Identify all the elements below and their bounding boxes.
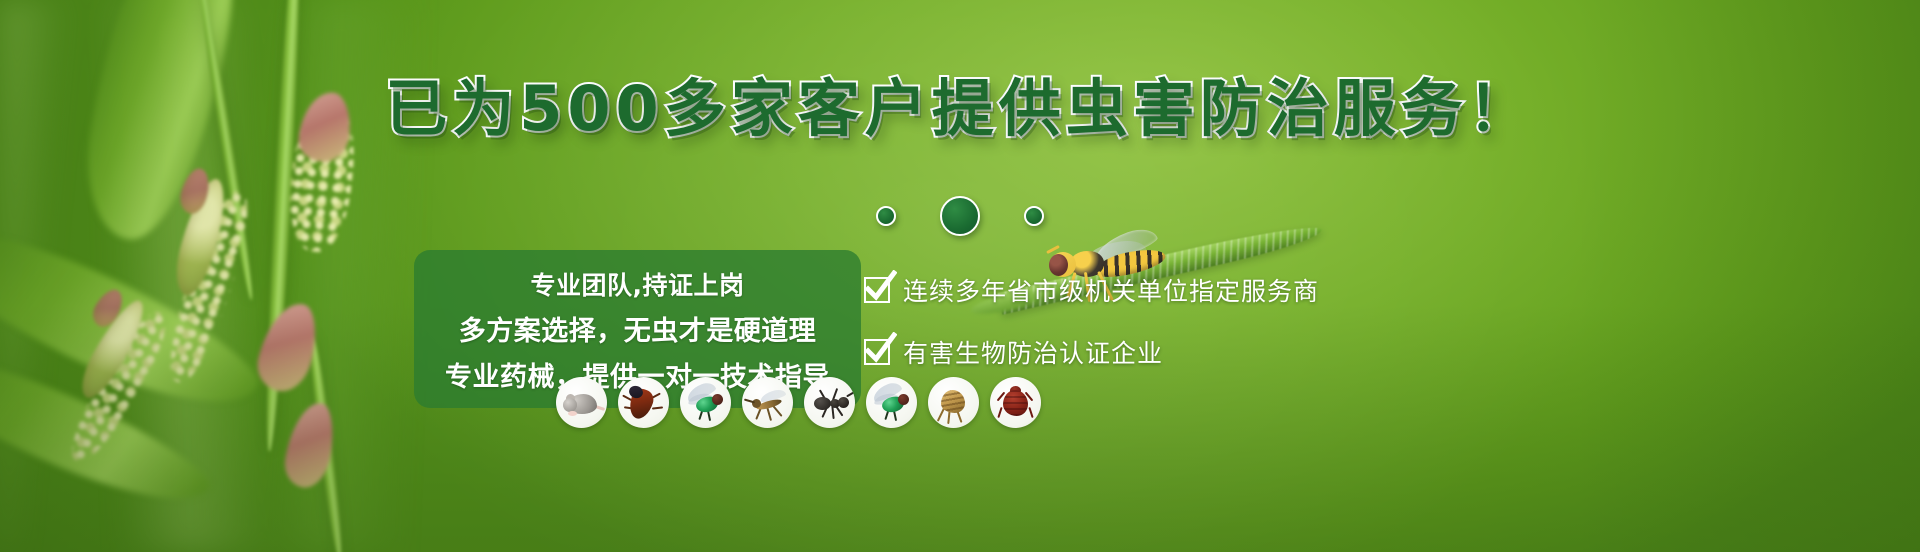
- dot-large-center: [940, 196, 980, 236]
- fly-icon[interactable]: [680, 377, 731, 428]
- selling-point-line-1: 专业团队,持证上岗: [414, 266, 861, 302]
- selling-point-line-2: 多方案选择，无虫才是硬道理: [414, 309, 861, 348]
- checkmark-icon: [864, 277, 890, 303]
- checklist-item-1: 连续多年省市级机关单位指定服务商: [864, 272, 1319, 308]
- green-fly-icon[interactable]: [866, 377, 917, 428]
- mouse-icon[interactable]: [556, 377, 607, 428]
- decorative-dot-row: [0, 196, 1920, 236]
- credentials-checklist: 连续多年省市级机关单位指定服务商 有害生物防治认证企业: [864, 272, 1319, 370]
- checklist-item-1-label: 连续多年省市级机关单位指定服务商: [903, 272, 1319, 308]
- banner-headline-text: 已为500多家客户提供虫害防治服务！: [385, 72, 1534, 145]
- checklist-item-2-label: 有害生物防治认证企业: [903, 334, 1163, 370]
- banner-headline: 已为500多家客户提供虫害防治服务！: [0, 78, 1920, 140]
- ant-icon[interactable]: [804, 377, 855, 428]
- pest-icon-row: [556, 377, 1041, 428]
- bedbug-icon[interactable]: [990, 377, 1041, 428]
- dot-small-right: [1024, 206, 1044, 226]
- cockroach-icon[interactable]: [618, 377, 669, 428]
- promo-banner: 已为500多家客户提供虫害防治服务！ 专业团队,持证上岗 多方案选择，无虫才是硬…: [0, 0, 1920, 552]
- mosquito-icon[interactable]: [742, 377, 793, 428]
- checkmark-icon: [864, 339, 890, 365]
- flea-icon[interactable]: [928, 377, 979, 428]
- checklist-item-2: 有害生物防治认证企业: [864, 334, 1319, 370]
- dot-small-left: [876, 206, 896, 226]
